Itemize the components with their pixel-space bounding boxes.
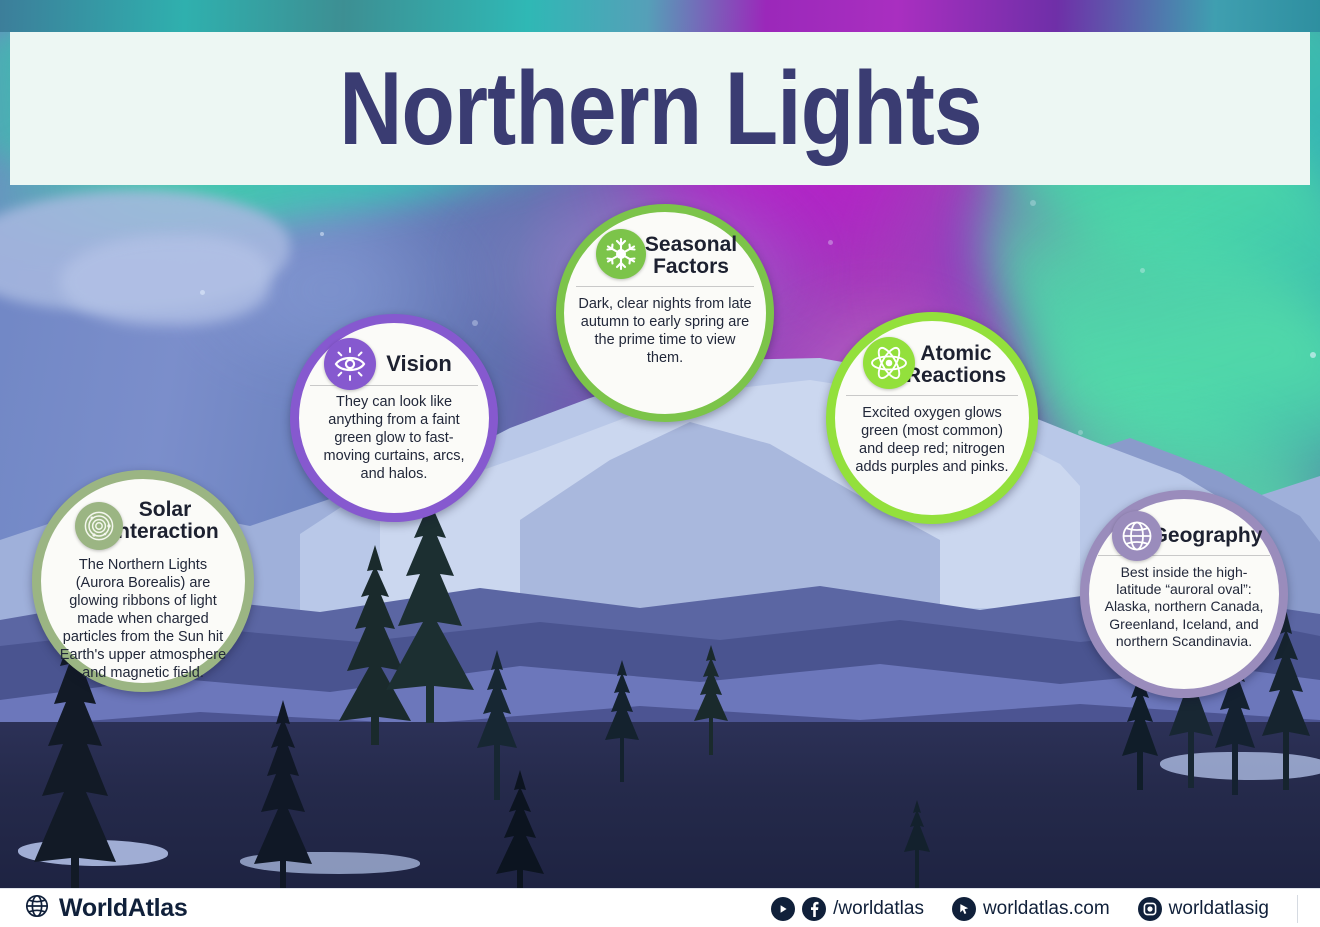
top-aurora-strip (0, 0, 1320, 32)
star (472, 320, 478, 326)
pine-tree (900, 800, 934, 888)
title-banner: Northern Lights (10, 32, 1310, 185)
globe-icon (1112, 511, 1162, 561)
pine-tree (600, 660, 644, 782)
atom-icon (863, 337, 915, 389)
instagram-icon[interactable] (1138, 897, 1162, 921)
info-circle-atomic-reactions[interactable]: Atomic Reactions Excited oxygen glows gr… (826, 312, 1038, 524)
social-label: /worldatlas (833, 898, 924, 920)
info-circle-body: Best inside the high-latitude “auroral o… (1101, 564, 1267, 651)
info-circle-body: Excited oxygen glows green (most common)… (849, 405, 1015, 477)
star (828, 240, 833, 245)
info-circle-body: They can look like anything from a faint… (313, 394, 475, 484)
social-label: worldatlas.com (983, 898, 1110, 920)
cursor-icon[interactable] (952, 897, 976, 921)
solar-orbit-icon (75, 502, 123, 550)
social-link-website[interactable]: worldatlas.com (952, 897, 1110, 921)
globe-icon (24, 893, 50, 924)
brand-name: WorldAtlas (59, 894, 188, 923)
info-circle-title: Geography (1152, 525, 1263, 547)
info-circle-geography[interactable]: Geography Best inside the high-latitude … (1080, 490, 1288, 698)
infographic-canvas: Northern Lights Solar Interaction The No… (0, 0, 1320, 927)
star (1030, 200, 1036, 206)
info-circle-title: Vision (386, 353, 452, 376)
info-circle-body: The Northern Lights (Aurora Borealis) ar… (57, 557, 229, 683)
info-circle-seasonal-factors[interactable]: Seasonal Factors Dark, clear nights from… (556, 204, 774, 422)
info-circle-body: Dark, clear nights from late autumn to e… (578, 296, 752, 368)
facebook-icon[interactable] (802, 897, 826, 921)
star (1310, 352, 1316, 358)
pine-tree (690, 645, 732, 755)
star (1078, 430, 1083, 435)
brand-logo[interactable]: WorldAtlas (24, 893, 188, 924)
youtube-icon[interactable] (771, 897, 795, 921)
snowflake-icon (596, 229, 646, 279)
star (320, 232, 324, 236)
eye-icon (324, 338, 376, 390)
footer-divider (1297, 895, 1298, 923)
title-divider (846, 395, 1018, 396)
social-link-worldatlas[interactable]: /worldatlas (771, 897, 924, 921)
info-circle-solar-interaction[interactable]: Solar Interaction The Northern Lights (A… (32, 470, 254, 692)
pine-tree (250, 700, 316, 888)
social-links: /worldatlas worldatlas.com worldatlasig (771, 895, 1298, 923)
info-circle-vision[interactable]: Vision They can look like anything from … (290, 314, 498, 522)
social-link-instagram[interactable]: worldatlasig (1138, 897, 1269, 921)
page-title: Northern Lights (339, 57, 982, 161)
star (200, 290, 205, 295)
sky-cloud-2 (60, 235, 270, 325)
info-circle-title: Seasonal Factors (630, 234, 752, 277)
social-label: worldatlasig (1169, 898, 1269, 920)
star (1140, 268, 1145, 273)
pine-tree (490, 770, 550, 888)
footer-bar: WorldAtlas /worldatlas worldatlas.com (0, 888, 1320, 927)
title-divider (576, 286, 754, 287)
